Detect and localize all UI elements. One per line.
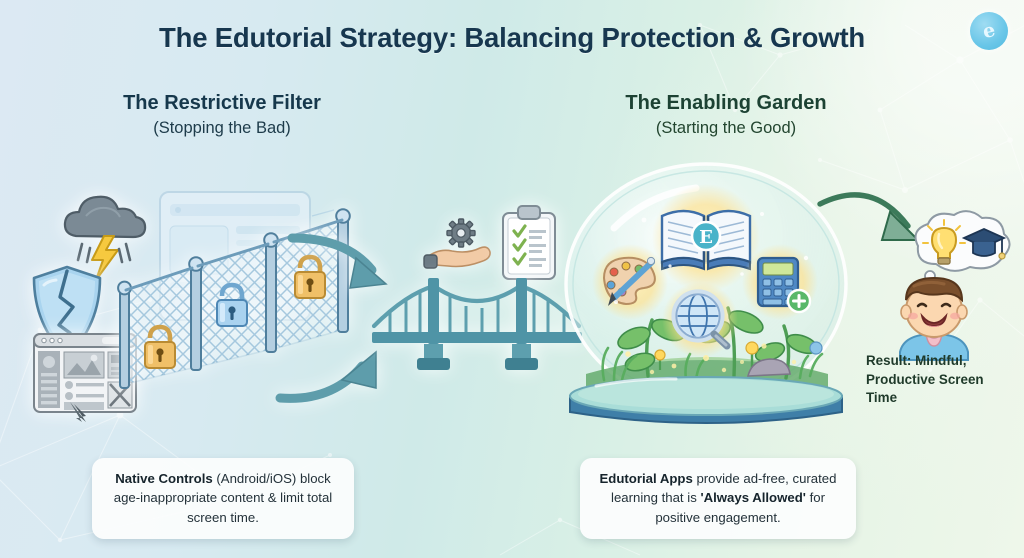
column-heading-label: The Enabling Garden <box>556 92 896 115</box>
infographic-canvas: The Edutorial Strategy: Balancing Protec… <box>0 0 1024 558</box>
caption-card-right: Edutorial Apps provide ad-free, curated … <box>580 458 856 539</box>
column-heading-label: The Restrictive Filter <box>52 92 392 115</box>
caption-right-bold-1: Edutorial Apps <box>600 471 693 486</box>
dome-base-platform-icon <box>556 378 856 440</box>
caption-right-bold-3: 'Always Allowed' <box>700 490 805 505</box>
calculator-plus-icon <box>742 244 818 320</box>
caption-left-bold: Native Controls <box>115 471 212 486</box>
result-label: Result: Mindful, Productive Screen Time <box>866 352 1016 408</box>
logo-glyph: e <box>966 8 1011 53</box>
column-heading-enabling-garden: The Enabling Garden (Starting the Good) <box>556 92 896 138</box>
column-heading-restrictive-filter: The Restrictive Filter (Stopping the Bad… <box>52 92 392 138</box>
column-subheading-label: (Starting the Good) <box>556 119 896 138</box>
art-palette-icon <box>592 244 668 320</box>
page-title: The Edutorial Strategy: Balancing Protec… <box>0 22 1024 54</box>
book-badge-letter: E <box>699 227 713 248</box>
globe-magnifier-icon <box>662 282 738 358</box>
suspension-bridge-icon <box>372 264 582 374</box>
smiling-child-icon <box>882 268 986 360</box>
caption-card-left: Native Controls (Android/iOS) block age-… <box>92 458 354 539</box>
column-subheading-label: (Stopping the Bad) <box>52 119 392 138</box>
edutorial-logo-icon[interactable]: e <box>970 12 1008 50</box>
